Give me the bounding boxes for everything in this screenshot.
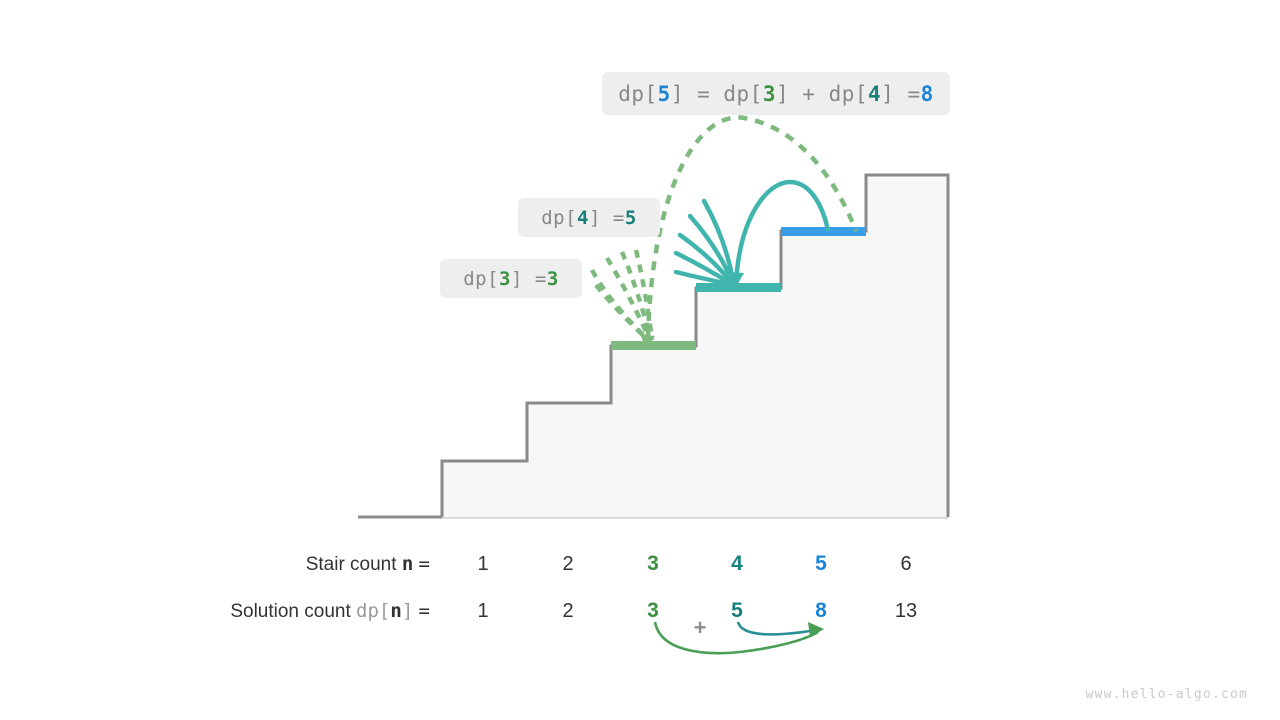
chip-dp4-mid: ] =	[589, 207, 625, 229]
chip-dp3-prefix: dp[	[463, 268, 499, 290]
chip-dp3: dp[3] = 3	[440, 259, 582, 298]
chip-dp4-value: 5	[625, 207, 637, 229]
chip-dp5-result: 8	[921, 82, 934, 106]
solution-count-cell-1: 1	[453, 600, 513, 623]
step-highlight-3-green	[611, 341, 696, 350]
row-label-stair-count: Stair count n =	[150, 553, 430, 576]
row-label-sol-text: Solution count	[230, 601, 350, 622]
stair-count-cell-5: 5	[791, 552, 851, 576]
chip-dp5-index2: 3	[763, 82, 776, 106]
teal-incoming-arcs	[676, 201, 733, 284]
chip-dp4-prefix: dp[	[541, 207, 577, 229]
row-label-sol-var-prefix: dp[	[356, 600, 390, 622]
chip-dp5-mid2: ] + dp[	[776, 82, 868, 106]
green-incoming-arcs	[592, 250, 652, 340]
figure-canvas: dp[5] = dp[3] + dp[4] = 8 dp[4] = 5 dp[3…	[0, 0, 1280, 720]
chip-dp5-formula: dp[5] = dp[3] + dp[4] = 8	[602, 72, 950, 115]
row-label-stair-eq: =	[419, 553, 430, 575]
chip-dp5-prefix: dp[	[618, 82, 657, 106]
plus-operator: +	[670, 615, 730, 641]
step-highlight-4-teal	[696, 283, 781, 292]
watermark: www.hello-algo.com	[1086, 687, 1248, 702]
stair-count-cell-6: 6	[876, 553, 936, 576]
solution-count-cell-6: 13	[876, 600, 936, 623]
chip-dp4-index: 4	[577, 207, 589, 229]
solution-count-cell-5: 8	[791, 599, 851, 623]
chip-dp3-value: 3	[547, 268, 559, 290]
row-label-sol-var-suffix: ]	[402, 600, 413, 622]
chip-dp3-index: 3	[499, 268, 511, 290]
sum-arrowhead	[808, 622, 824, 637]
stair-count-cell-1: 1	[453, 553, 513, 576]
stair-count-cell-4: 4	[707, 552, 767, 576]
step-highlight-5-blue	[781, 227, 866, 236]
row-label-stair-var: n	[402, 553, 413, 575]
sum-arrow-from-5	[738, 622, 816, 634]
stair-count-cell-3: 3	[623, 552, 683, 576]
chip-dp5-index3: 4	[868, 82, 881, 106]
row-label-sol-eq: =	[419, 600, 430, 622]
row-label-sol-var: n	[390, 600, 401, 622]
stair-count-cell-2: 2	[538, 553, 598, 576]
chip-dp5-mid3: ] =	[881, 82, 920, 106]
solution-count-cell-2: 2	[538, 600, 598, 623]
row-label-stair-text: Stair count	[306, 554, 397, 575]
chip-dp4: dp[4] = 5	[518, 198, 660, 237]
chip-dp5-mid1: ] = dp[	[671, 82, 763, 106]
row-label-solution-count: Solution count dp[n] =	[150, 600, 430, 623]
chip-dp3-mid: ] =	[511, 268, 547, 290]
chip-dp5-index: 5	[658, 82, 671, 106]
